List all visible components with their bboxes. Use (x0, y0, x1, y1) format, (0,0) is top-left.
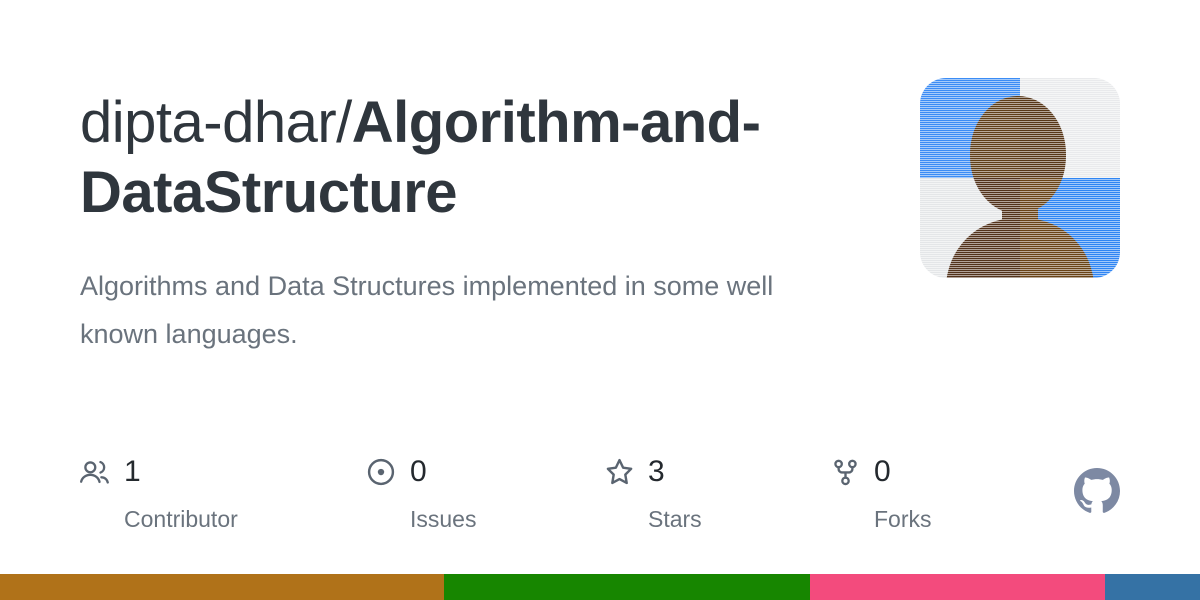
stat-issues-label: Issues (410, 506, 476, 533)
people-icon (78, 455, 112, 489)
stat-issues-top: 0 (364, 452, 427, 492)
stat-stars-value: 3 (648, 457, 665, 487)
language-bar (0, 574, 1200, 600)
stat-stars: 3 Stars (602, 452, 754, 533)
issue-opened-icon (364, 455, 398, 489)
language-bar-segment-4 (1105, 574, 1200, 600)
stat-contributors: 1 Contributor (78, 452, 290, 533)
repo-stats: 1 Contributor 0 Issues (78, 452, 948, 533)
repo-owner: dipta-dhar (80, 90, 336, 155)
repo-forked-icon (828, 455, 862, 489)
avatar-portrait-silhouette (920, 78, 1120, 278)
star-icon (602, 455, 636, 489)
stat-contributors-label: Contributor (124, 506, 238, 533)
repo-social-preview-card: dipta-dhar/Algorithm-and-DataStructure A… (0, 0, 1200, 600)
stat-contributors-value: 1 (124, 457, 141, 487)
language-bar-segment-3 (810, 574, 1105, 600)
owner-avatar (920, 78, 1120, 278)
stat-stars-top: 3 (602, 452, 665, 492)
stat-contributors-top: 1 (78, 452, 141, 492)
stat-forks: 0 Forks (828, 452, 948, 533)
avatar-artwork (920, 78, 1120, 278)
repo-name-separator: / (336, 90, 352, 155)
language-bar-segment-2 (444, 574, 810, 600)
page-title: dipta-dhar/Algorithm-and-DataStructure (80, 88, 880, 228)
repo-description: Algorithms and Data Structures implement… (80, 262, 820, 358)
stat-issues: 0 Issues (364, 452, 528, 533)
stat-issues-value: 0 (410, 457, 427, 487)
stat-forks-value: 0 (874, 457, 891, 487)
stat-stars-label: Stars (648, 506, 702, 533)
stat-forks-top: 0 (828, 452, 891, 492)
github-mark-icon (1074, 468, 1120, 514)
language-bar-segment-1 (0, 574, 444, 600)
stat-forks-label: Forks (874, 506, 932, 533)
